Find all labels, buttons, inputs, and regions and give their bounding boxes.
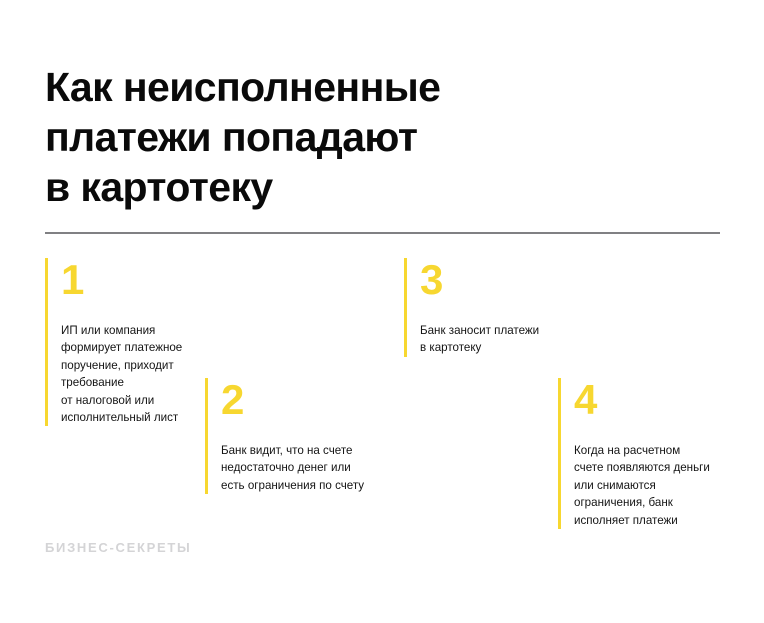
page-title-line-3: в картотеку <box>45 162 685 212</box>
step-number-1: 1 <box>61 258 205 302</box>
page-title-line-2: платежи попадают <box>45 112 685 162</box>
step-text-3: Банк заносит платежи в картотеку <box>420 322 569 357</box>
step-number-4: 4 <box>574 378 738 422</box>
brand-wordmark: БИЗНЕС-СЕКРЕТЫ <box>45 540 191 556</box>
step-number-2: 2 <box>221 378 385 422</box>
infographic-canvas: Как неисполненные платежи попадают в кар… <box>0 0 764 623</box>
step-text-2: Банк видит, что на счете недостаточно де… <box>221 442 385 494</box>
title-divider <box>45 232 720 234</box>
step-block-3: 3 Банк заносит платежи в картотеку <box>404 258 569 357</box>
step-text-4: Когда на расчетном счете появляются день… <box>574 442 738 529</box>
page-title: Как неисполненные платежи попадают в кар… <box>45 62 685 212</box>
step-block-4: 4 Когда на расчетном счете появляются де… <box>558 378 738 529</box>
step-block-1: 1 ИП или компания формирует платежное по… <box>45 258 205 426</box>
step-number-3: 3 <box>420 258 569 302</box>
page-title-line-1: Как неисполненные <box>45 62 685 112</box>
step-text-1: ИП или компания формирует платежное пору… <box>61 322 205 426</box>
step-block-2: 2 Банк видит, что на счете недостаточно … <box>205 378 385 494</box>
